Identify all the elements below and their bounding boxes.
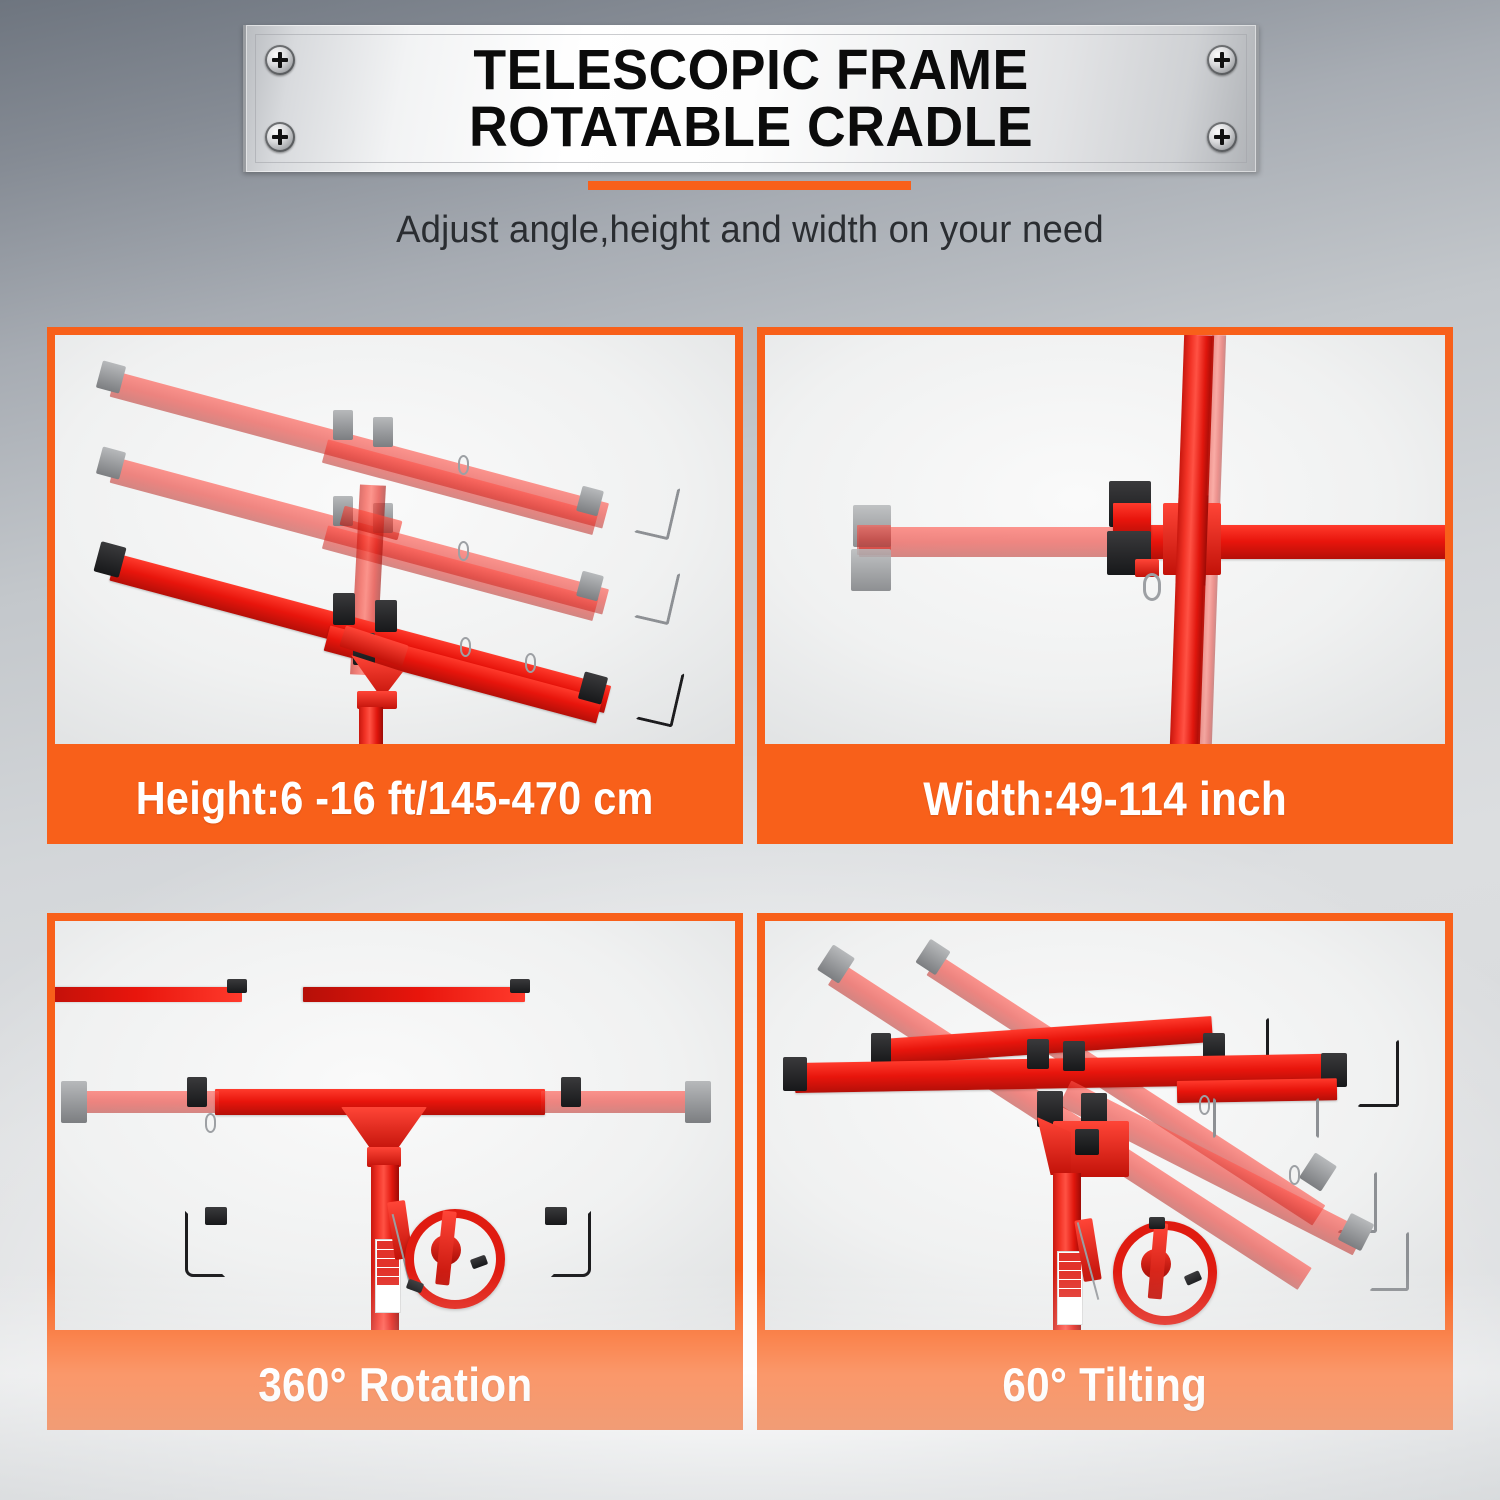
feature-card-height: Height:6 -16 ft/145-470 cm [47, 327, 743, 844]
screw-icon [1207, 45, 1237, 75]
mast-column [359, 707, 383, 752]
collar-block-icon [1063, 1041, 1085, 1071]
title-plate: TELESCOPIC FRAME ROTATABLE CRADLE [243, 25, 1259, 172]
panel-hook-icon [635, 664, 685, 727]
collar-block-icon [1027, 1039, 1049, 1069]
panel-hook-icon [633, 565, 680, 626]
upright-cap-icon [510, 979, 530, 993]
cradle-upright-left [47, 987, 242, 1002]
collar-block-icon [333, 410, 353, 440]
arm-end-cap-icon [871, 1033, 891, 1063]
rotation-collar [367, 1147, 401, 1167]
feature-card-rotation: 360° Rotation [47, 913, 743, 1430]
caption-label: Width:49-114 inch [923, 771, 1287, 826]
product-photo-height [47, 327, 743, 752]
title-line-2: ROTATABLE CRADLE [469, 99, 1033, 155]
collar-block-icon [373, 417, 393, 447]
collar-block-icon [375, 600, 397, 632]
page-title: TELESCOPIC FRAME ROTATABLE CRADLE [469, 42, 1033, 155]
beam-end-cap-icon [61, 1081, 87, 1123]
arm-end-cap-icon [783, 1057, 807, 1091]
page-subtitle: Adjust angle,height and width on your ne… [30, 209, 1470, 252]
caption-label: 60° Tilting [1003, 1357, 1208, 1412]
upright-cap-icon [227, 979, 247, 993]
product-photo-width [757, 327, 1453, 752]
locking-pin-icon [458, 455, 469, 475]
product-photo-rotation [47, 913, 743, 1338]
panel-hook-icon [551, 1211, 591, 1277]
locking-pin-icon [458, 541, 469, 561]
mast-front-face [1175, 495, 1208, 586]
product-photo-tilting [757, 913, 1453, 1338]
panel-hook-icon [1357, 1039, 1399, 1107]
collar-block-icon [333, 593, 355, 625]
caption-bar-height: Height:6 -16 ft/145-470 cm [47, 752, 743, 844]
locking-pin-icon [205, 1113, 216, 1133]
feature-card-width: Width:49-114 inch [757, 327, 1453, 844]
title-plate-inner: TELESCOPIC FRAME ROTATABLE CRADLE [255, 34, 1247, 163]
caption-bar-width: Width:49-114 inch [757, 752, 1453, 844]
panel-hook-icon [185, 1211, 225, 1277]
screw-icon [265, 45, 295, 75]
caption-bar-tilting: 60° Tilting [757, 1338, 1453, 1430]
cradle-upright-right [303, 987, 525, 1002]
panel-hook-icon [1213, 1097, 1319, 1139]
caption-label: 360° Rotation [258, 1357, 532, 1412]
locking-pin-ring-icon [1143, 573, 1161, 601]
infographic-canvas: TELESCOPIC FRAME ROTATABLE CRADLE Adjust… [0, 0, 1500, 1500]
locking-pin-icon [525, 653, 536, 673]
locking-pin-icon [1289, 1165, 1300, 1185]
caption-label: Height:6 -16 ft/145-470 cm [136, 771, 654, 825]
panel-hook-icon [633, 480, 680, 541]
screw-icon [1207, 122, 1237, 152]
rotation-hub [341, 1107, 427, 1151]
locking-pin-icon [460, 637, 471, 657]
screw-icon [265, 122, 295, 152]
winch-handle-grip-icon [1149, 1217, 1165, 1229]
cradle-crossbeam-ghost [859, 527, 1143, 557]
arm-end-cap-icon [1299, 1152, 1337, 1191]
beam-end-cap-icon [685, 1081, 711, 1123]
locking-pin-icon [1199, 1095, 1210, 1115]
warning-label-stack [1057, 1251, 1083, 1325]
caption-bar-rotation: 360° Rotation [47, 1338, 743, 1430]
tilt-lock-block [1075, 1129, 1099, 1155]
feature-card-tilting: 60° Tilting [757, 913, 1453, 1430]
collar-block-icon [187, 1077, 207, 1107]
beam-end-cap-ghost-icon [851, 549, 891, 591]
panel-hook-icon [1369, 1231, 1409, 1291]
collar-block-icon [561, 1077, 581, 1107]
title-line-1: TELESCOPIC FRAME [473, 38, 1028, 102]
accent-divider [588, 181, 911, 190]
